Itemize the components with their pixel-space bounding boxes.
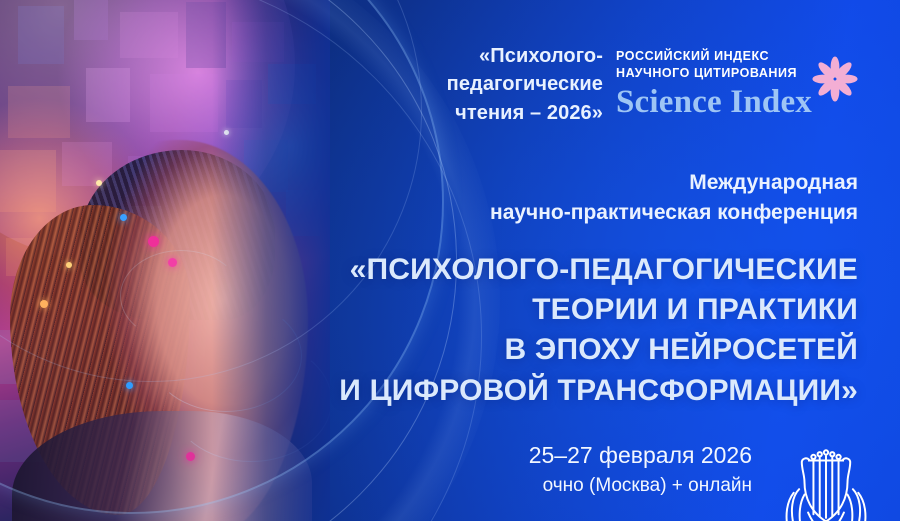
event-series-name: «Психолого- педагогические чтения – 2026… — [398, 42, 603, 127]
main-title-line-3: В ЭПОХУ НЕЙРОСЕТЕЙ — [258, 330, 858, 370]
event-format: очно (Москва) + онлайн — [529, 473, 752, 499]
main-title-line-2: ТЕОРИИ И ПРАКТИКИ — [258, 290, 858, 330]
conference-main-title: «ПСИХОЛОГО-ПЕДАГОГИЧЕСКИЕ ТЕОРИИ И ПРАКТ… — [258, 250, 858, 411]
conference-subtitle: Международная научно-практическая конфер… — [298, 168, 858, 228]
main-title-line-1: «ПСИХОЛОГО-ПЕДАГОГИЧЕСКИЕ — [258, 250, 858, 290]
main-title-line-4: И ЦИФРОВОЙ ТРАНСФОРМАЦИИ» — [258, 371, 858, 411]
event-dates: 25–27 февраля 2026 — [529, 441, 752, 471]
science-index-logo: РОССИЙСКИЙ ИНДЕКС НАУЧНОГО ЦИТИРОВАНИЯ S… — [616, 48, 856, 119]
event-name-line-1: «Психолого- — [398, 42, 603, 70]
subtitle-line-1: Международная — [298, 168, 858, 198]
event-details: 25–27 февраля 2026 очно (Москва) + онлай… — [529, 441, 752, 499]
flower-asterisk-icon — [812, 56, 858, 102]
event-name-line-2: педагогические — [398, 70, 603, 98]
subtitle-line-2: научно-практическая конференция — [298, 198, 858, 228]
event-name-line-3: чтения – 2026» — [398, 99, 603, 127]
university-lyre-shield-emblem — [770, 439, 882, 521]
conference-poster: «Психолого- педагогические чтения – 2026… — [0, 0, 900, 521]
